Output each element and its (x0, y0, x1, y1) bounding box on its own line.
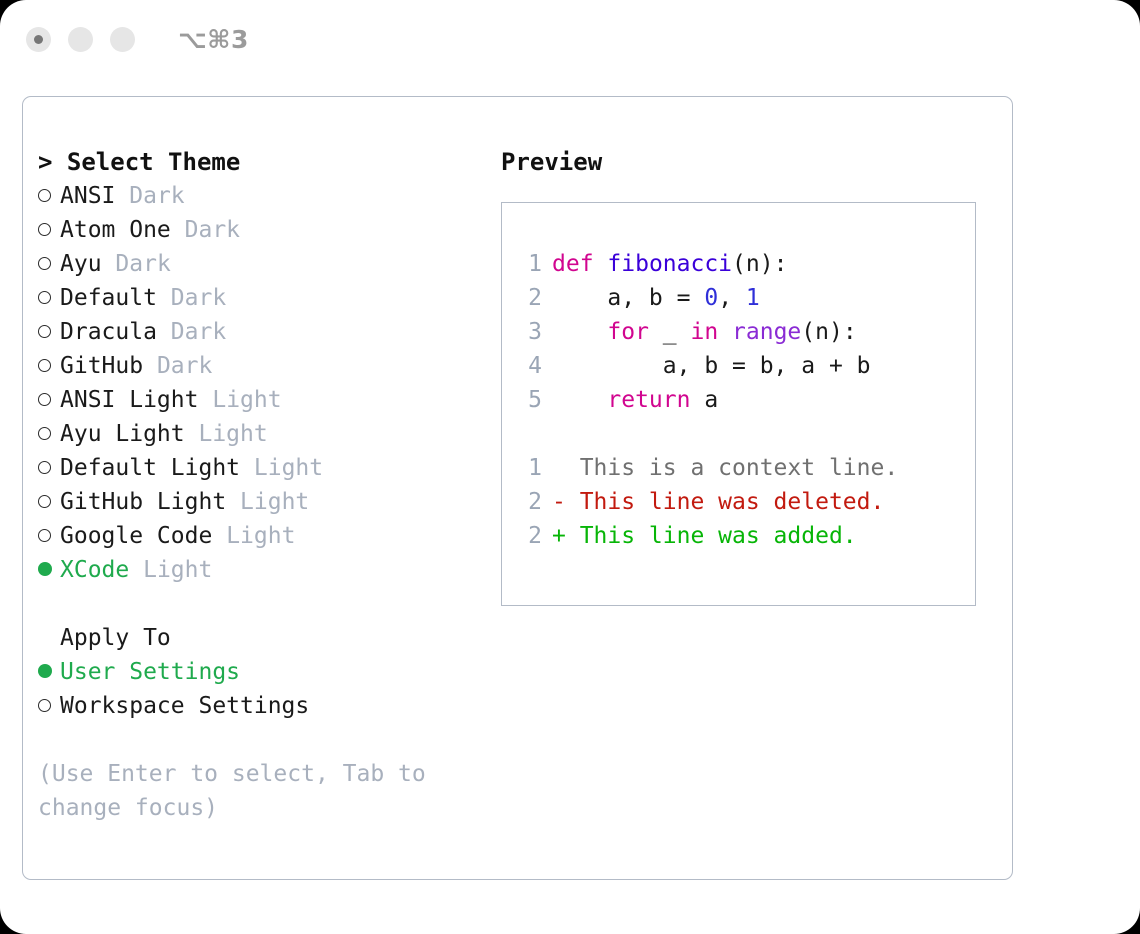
code-token-del: - This line was deleted. (552, 485, 884, 519)
theme-item-label: Default Light (60, 451, 240, 485)
radio-unselected-icon (38, 359, 51, 372)
main-panel: > Select Theme ANSI DarkAtom One DarkAyu… (22, 96, 1013, 880)
row-space (102, 247, 116, 281)
theme-item-label: Atom One (60, 213, 171, 247)
diff-block: 1 This is a context line.2- This line wa… (516, 451, 975, 553)
radio-unselected-icon (38, 427, 51, 440)
window-dot-third[interactable] (110, 27, 135, 52)
row-space (157, 315, 171, 349)
radio-bullet (38, 655, 60, 689)
theme-item-tag: Dark (129, 179, 184, 213)
theme-item-label: Ayu (60, 247, 102, 281)
row-space (129, 553, 143, 587)
window-dot-second[interactable] (68, 27, 93, 52)
theme-item-label: Ayu Light (60, 417, 185, 451)
theme-item-label: Default (60, 281, 157, 315)
radio-bullet (38, 349, 60, 383)
theme-item-tag: Dark (157, 349, 212, 383)
row-space (157, 281, 171, 315)
line-number: 2 (516, 485, 542, 519)
code-line: 2 a, b = 0, 1 (516, 281, 975, 315)
window-dot-active-icon (34, 35, 43, 44)
code-line: 4 a, b = b, a + b (516, 349, 975, 383)
code-token-ctx: This is a context line. (552, 451, 898, 485)
window-controls (26, 27, 135, 52)
theme-item-tag: Dark (185, 213, 240, 247)
code-token-txt: (n): (801, 315, 856, 349)
radio-selected-icon (38, 562, 52, 576)
keyboard-hint: (Use Enter to select, Tab to change focu… (38, 757, 438, 825)
code-line: 2- This line was deleted. (516, 485, 975, 519)
code-token-txt: , (718, 281, 746, 315)
apply-to-item[interactable]: User Settings (38, 655, 478, 689)
theme-item[interactable]: Ayu Light Light (38, 417, 478, 451)
radio-unselected-icon (38, 257, 51, 270)
theme-item[interactable]: Default Dark (38, 281, 478, 315)
preview-heading: Preview (501, 145, 991, 179)
row-space (171, 213, 185, 247)
window-titlebar: ⌥⌘3 (0, 0, 1140, 78)
code-token-txt (718, 315, 732, 349)
row-space (240, 451, 254, 485)
code-token-call: range (732, 315, 801, 349)
window-dot-active[interactable] (26, 27, 51, 52)
app-window: ⌥⌘3 > Select Theme ANSI DarkAtom One Dar… (0, 0, 1140, 934)
radio-bullet (38, 519, 60, 553)
theme-item[interactable]: ANSI Dark (38, 179, 478, 213)
code-token-kw: return (607, 383, 690, 417)
theme-item-tag: Light (226, 519, 295, 553)
line-number: 5 (516, 383, 542, 417)
theme-item[interactable]: XCode Light (38, 553, 478, 587)
code-token-kw: in (690, 315, 718, 349)
theme-item-tag: Dark (171, 315, 226, 349)
radio-unselected-icon (38, 529, 51, 542)
line-number: 1 (516, 451, 542, 485)
radio-unselected-icon (38, 325, 51, 338)
theme-item-label: Google Code (60, 519, 212, 553)
radio-unselected-icon (38, 393, 51, 406)
code-token-fn: fibonacci (607, 247, 732, 281)
row-space (226, 485, 240, 519)
radio-bullet (38, 315, 60, 349)
theme-item[interactable]: GitHub Light Light (38, 485, 478, 519)
code-line: 1def fibonacci(n): (516, 247, 975, 281)
line-number: 1 (516, 247, 542, 281)
row-space (115, 179, 129, 213)
select-theme-heading: > Select Theme (38, 145, 478, 179)
row-space (198, 383, 212, 417)
apply-to-item-label: User Settings (60, 655, 240, 689)
radio-unselected-icon (38, 495, 51, 508)
line-number: 3 (516, 315, 542, 349)
radio-unselected-icon (38, 699, 51, 712)
code-token-txt: (n): (732, 247, 787, 281)
theme-item[interactable]: Default Light Light (38, 451, 478, 485)
line-number: 2 (516, 519, 542, 553)
theme-item-tag: Light (240, 485, 309, 519)
radio-unselected-icon (38, 223, 51, 236)
radio-unselected-icon (38, 189, 51, 202)
code-token-txt: _ (649, 315, 691, 349)
code-token-add: + This line was added. (552, 519, 857, 553)
theme-item-tag: Dark (115, 247, 170, 281)
theme-item-tag: Light (143, 553, 212, 587)
row-space (212, 519, 226, 553)
code-token-kw: def (552, 247, 594, 281)
theme-item-label: GitHub Light (60, 485, 226, 519)
theme-item[interactable]: Dracula Dark (38, 315, 478, 349)
radio-bullet (38, 247, 60, 281)
theme-list: ANSI DarkAtom One DarkAyu DarkDefault Da… (38, 179, 478, 587)
theme-item-tag: Light (212, 383, 281, 417)
radio-bullet (38, 689, 60, 723)
code-token-txt (552, 383, 607, 417)
theme-item-tag: Light (198, 417, 267, 451)
code-token-txt: a, b = b, a + b (552, 349, 871, 383)
radio-unselected-icon (38, 461, 51, 474)
code-token-txt (594, 247, 608, 281)
radio-selected-icon (38, 664, 52, 678)
theme-item[interactable]: Google Code Light (38, 519, 478, 553)
theme-item-label: ANSI Light (60, 383, 198, 417)
theme-item-label: ANSI (60, 179, 115, 213)
code-token-num: 1 (746, 281, 760, 315)
code-line: 5 return a (516, 383, 975, 417)
code-line: 3 for _ in range(n): (516, 315, 975, 349)
theme-item-label: GitHub (60, 349, 143, 383)
theme-item[interactable]: Ayu Dark (38, 247, 478, 281)
radio-bullet (38, 417, 60, 451)
theme-item[interactable]: Atom One Dark (38, 213, 478, 247)
shortcut-label: ⌥⌘3 (178, 25, 249, 54)
radio-bullet (38, 281, 60, 315)
row-space (143, 349, 157, 383)
code-token-num: 0 (704, 281, 718, 315)
apply-to-heading: Apply To (38, 621, 478, 655)
code-block: 1def fibonacci(n):2 a, b = 0, 13 for _ i… (516, 247, 975, 417)
apply-to-item[interactable]: Workspace Settings (38, 689, 478, 723)
theme-apply-spacer (38, 587, 478, 621)
theme-item[interactable]: GitHub Dark (38, 349, 478, 383)
theme-item[interactable]: ANSI Light Light (38, 383, 478, 417)
code-token-txt (552, 315, 607, 349)
code-token-txt: a, b = (552, 281, 704, 315)
theme-item-tag: Light (254, 451, 323, 485)
radio-bullet (38, 179, 60, 213)
apply-to-list: User SettingsWorkspace Settings (38, 655, 478, 723)
code-line: 1 This is a context line. (516, 451, 975, 485)
preview-column: Preview 1def fibonacci(n):2 a, b = 0, 13… (501, 145, 991, 606)
radio-unselected-icon (38, 291, 51, 304)
code-token-txt: a (690, 383, 718, 417)
theme-item-label: Dracula (60, 315, 157, 349)
radio-bullet (38, 553, 60, 587)
radio-bullet (38, 383, 60, 417)
line-number: 2 (516, 281, 542, 315)
radio-bullet (38, 213, 60, 247)
row-space (185, 417, 199, 451)
radio-bullet (38, 485, 60, 519)
theme-selector-column: > Select Theme ANSI DarkAtom One DarkAyu… (38, 145, 478, 825)
code-token-kw: for (607, 315, 649, 349)
radio-bullet (38, 451, 60, 485)
code-line: 2+ This line was added. (516, 519, 975, 553)
code-diff-gap (516, 417, 975, 451)
apply-to-item-label: Workspace Settings (60, 689, 309, 723)
theme-item-label: XCode (60, 553, 129, 587)
preview-box: 1def fibonacci(n):2 a, b = 0, 13 for _ i… (501, 202, 976, 606)
theme-item-tag: Dark (171, 281, 226, 315)
line-number: 4 (516, 349, 542, 383)
